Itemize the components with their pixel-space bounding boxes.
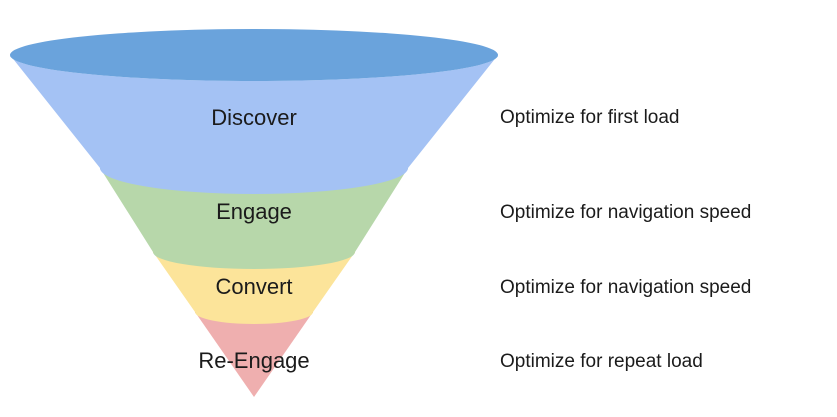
annotation-re-engage: Optimize for repeat load [500,352,703,371]
funnel-diagram-page: Re-Engage Convert Engage Discover Optimi… [0,0,837,417]
funnel-label-convert: Convert [215,274,292,299]
annotation-convert: Optimize for navigation speed [500,278,751,297]
annotation-engage: Optimize for navigation speed [500,203,751,222]
funnel-label-engage: Engage [216,199,292,224]
annotation-discover: Optimize for first load [500,108,680,127]
funnel-label-re-engage: Re-Engage [198,348,309,373]
funnel-stage-discover[interactable]: Discover [10,29,498,194]
funnel-label-discover: Discover [211,105,297,130]
funnel-cap-discover [10,29,498,81]
